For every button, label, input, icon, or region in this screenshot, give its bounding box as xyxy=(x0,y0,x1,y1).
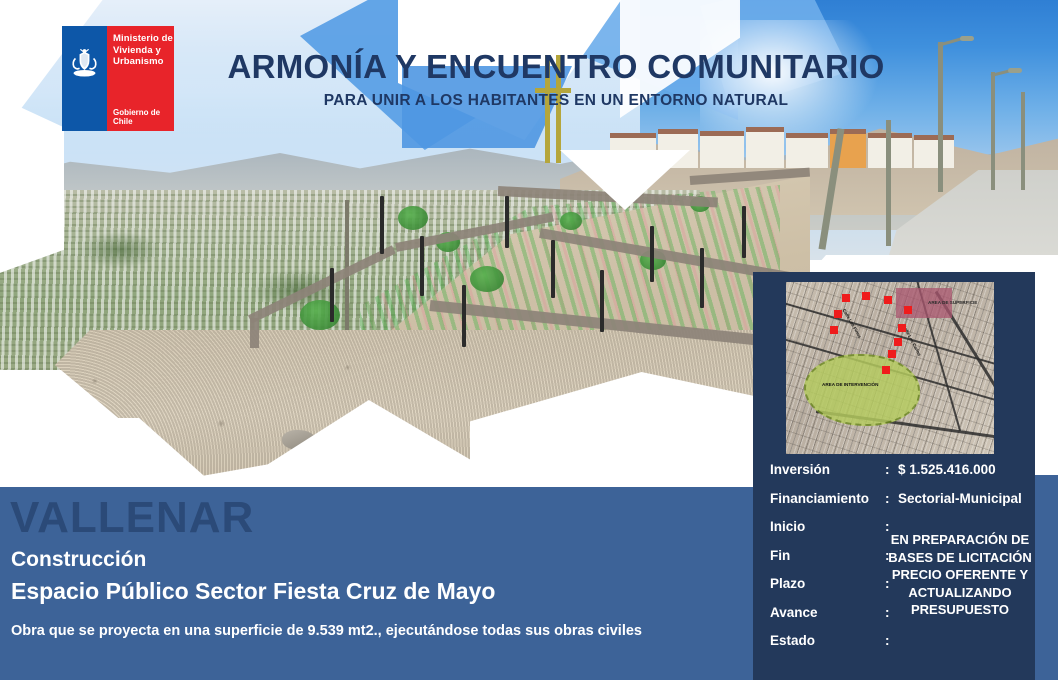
location-map[interactable]: AREA DE INTERVENCIÓN AREA DE SUPERFICIE … xyxy=(786,282,994,454)
logo-ministry-text: Ministerio deVivienda yUrbanismo xyxy=(113,33,173,68)
info-colon: : xyxy=(885,462,890,477)
bush-icon xyxy=(470,266,504,292)
page-subtitle: PARA UNIR A LOS HABITANTES EN UN ENTORNO… xyxy=(186,92,926,110)
info-label: Inversión xyxy=(770,462,830,477)
info-label: Plazo xyxy=(770,576,805,591)
minvu-logo: Ministerio deVivienda yUrbanismo Gobiern… xyxy=(62,26,174,131)
house-icon xyxy=(914,135,954,168)
info-row-financiamiento: Financiamiento : Sectorial-Municipal xyxy=(770,491,1040,520)
street-lamp-head xyxy=(960,36,974,41)
logo-blue-panel xyxy=(62,26,107,131)
map-marker xyxy=(830,326,838,334)
city-name: VALLENAR xyxy=(10,492,254,544)
project-description: Obra que se proyecta en una superficie d… xyxy=(11,620,747,643)
project-name: Espacio Público Sector Fiesta Cruz de Ma… xyxy=(11,578,495,605)
walkway-rendering xyxy=(250,318,259,348)
logo-government-text: Gobierno de Chile xyxy=(113,108,174,126)
fence-post-rendering xyxy=(420,236,424,296)
info-colon: : xyxy=(885,633,890,648)
page-title: ARMONÍA Y ENCUENTRO COMUNITARIO xyxy=(186,48,926,86)
info-value: Sectorial-Municipal xyxy=(898,491,1022,506)
poster-root: Ministerio deVivienda yUrbanismo Gobiern… xyxy=(0,0,1058,680)
info-label: Estado xyxy=(770,633,815,648)
bush-icon xyxy=(560,212,582,230)
map-marker xyxy=(898,324,906,332)
street-lamp-head xyxy=(1008,68,1022,73)
house-icon xyxy=(786,133,828,168)
chile-coat-of-arms-icon xyxy=(68,48,101,82)
info-colon: : xyxy=(885,491,890,506)
info-row-inversion: Inversión : $ 1.525.416.000 xyxy=(770,462,1040,491)
street-lamp-pole xyxy=(991,72,995,190)
info-value: $ 1.525.416.000 xyxy=(898,462,996,477)
house-icon xyxy=(746,127,784,168)
info-label: Inicio xyxy=(770,519,805,534)
utility-pole xyxy=(886,120,891,246)
map-marker xyxy=(834,310,842,318)
bush-icon xyxy=(398,206,428,230)
map-marker xyxy=(884,296,892,304)
map-marker xyxy=(882,366,890,374)
map-marker xyxy=(842,294,850,302)
info-label: Fin xyxy=(770,548,790,563)
fence-post-rendering xyxy=(650,226,654,282)
info-label: Financiamiento xyxy=(770,491,869,506)
logo-red-panel: Ministerio deVivienda yUrbanismo Gobiern… xyxy=(107,26,174,131)
fence-post-rendering xyxy=(742,206,746,258)
street-lamp-pole xyxy=(1021,92,1025,190)
map-marker xyxy=(888,350,896,358)
status-badge: EN PREPARACIÓN DE BASES DE LICITACIÓN PR… xyxy=(884,531,1036,619)
house-icon xyxy=(700,131,744,168)
utility-pole xyxy=(345,200,349,330)
info-label: Avance xyxy=(770,605,818,620)
fence-post-rendering xyxy=(600,270,604,332)
fence-post-rendering xyxy=(462,285,466,347)
map-marker xyxy=(894,338,902,346)
fence-post-rendering xyxy=(380,196,384,254)
project-type: Construcción xyxy=(11,548,146,572)
map-marker xyxy=(862,292,870,300)
fence-post-rendering xyxy=(505,196,509,248)
map-area-label: AREA DE INTERVENCIÓN xyxy=(822,382,878,387)
map-marker xyxy=(904,306,912,314)
fence-post-rendering xyxy=(551,240,555,298)
street-lamp-pole xyxy=(938,42,943,192)
fence-post-rendering xyxy=(700,248,704,308)
map-secondary-label: AREA DE SUPERFICIE xyxy=(928,300,977,305)
fence-post-rendering xyxy=(330,268,334,322)
bush-icon xyxy=(300,300,340,330)
info-row-estado: Estado : xyxy=(770,633,1040,662)
